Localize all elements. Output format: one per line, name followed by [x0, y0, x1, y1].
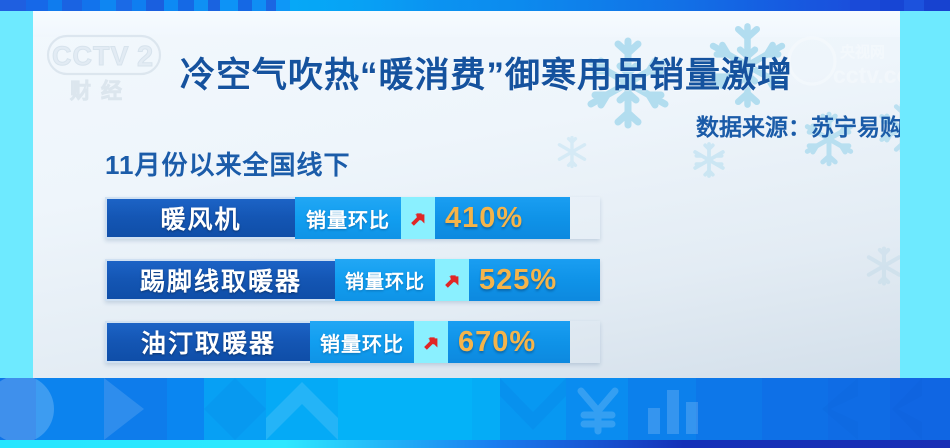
- arrow-left-motif: [822, 378, 892, 440]
- circle-motif: [0, 378, 66, 442]
- cctv-channel-number: 2: [137, 41, 153, 73]
- snowflake-icon: [553, 133, 591, 171]
- product-name: 踢脚线取暖器: [105, 259, 335, 301]
- stat-rows-container: 暖风机 销量环比 410% 踢脚线取暖器 销量环比: [105, 197, 600, 378]
- cctv-logo-text: CCTV: [52, 41, 130, 71]
- broadcast-screen: CCTV 2 财经 央视网 cctv.com 冷空气吹热“暖消费”御寒用品销量激…: [0, 0, 950, 448]
- table-row: 暖风机 销量环比 410%: [105, 197, 600, 239]
- play-triangle-motif: [104, 378, 168, 440]
- footer-bottom-strip: [0, 440, 950, 448]
- footer-decoration-band: [0, 378, 950, 448]
- metric-value: 410%: [435, 197, 570, 239]
- snowflake-icon: [861, 243, 900, 289]
- content-panel: CCTV 2 财经 央视网 cctv.com 冷空气吹热“暖消费”御寒用品销量激…: [33, 11, 900, 378]
- arrow-left-motif: [892, 378, 950, 440]
- metric-value: 525%: [469, 259, 600, 301]
- right-cyan-rail: [900, 11, 950, 378]
- metric-label: 销量环比: [295, 197, 401, 239]
- trend-up-arrow-icon: [401, 197, 435, 239]
- table-row: 油汀取暖器 销量环比 670%: [105, 321, 600, 363]
- left-cyan-rail: [0, 11, 33, 378]
- product-name: 暖风机: [105, 197, 295, 239]
- cctv2-channel-logo: CCTV 2 财经: [42, 28, 182, 104]
- product-name: 油汀取暖器: [105, 321, 310, 363]
- trend-up-arrow-icon: [435, 259, 469, 301]
- chevron-up-motif: [266, 378, 338, 440]
- cctv-channel-name: 财经: [70, 79, 132, 103]
- lead-line: 11月份以来全国线下: [105, 145, 351, 182]
- snowflake-icon: [688, 139, 730, 181]
- page-title: 冷空气吹热“暖消费”御寒用品销量激增: [180, 47, 900, 98]
- table-row: 踢脚线取暖器 销量环比 525%: [105, 259, 600, 301]
- data-source-label: 数据来源：苏宁易购: [593, 108, 900, 142]
- bar-chart-icon: [644, 388, 702, 434]
- diamond-motif: [204, 378, 266, 440]
- yen-symbol-icon: [572, 384, 624, 436]
- trend-up-arrow-icon: [414, 321, 448, 363]
- metric-value: 670%: [448, 321, 570, 363]
- top-decoration-bar: [0, 0, 950, 11]
- chevron-down-motif: [500, 378, 566, 440]
- metric-label: 销量环比: [335, 259, 435, 301]
- metric-label: 销量环比: [310, 321, 414, 363]
